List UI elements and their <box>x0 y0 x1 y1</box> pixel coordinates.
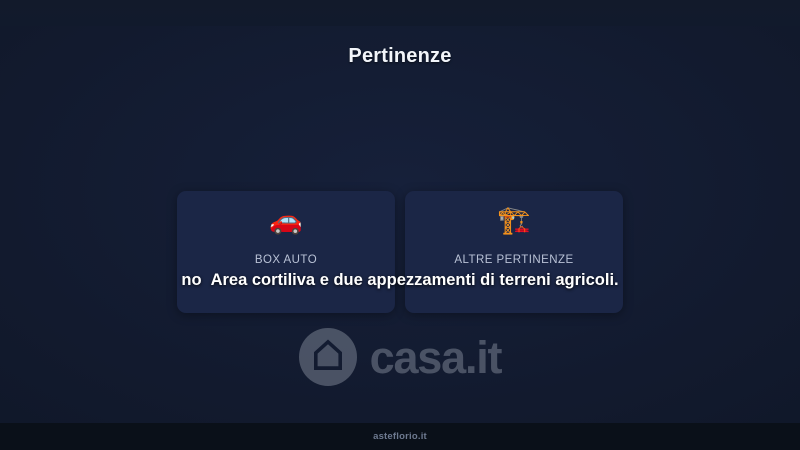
top-band <box>0 0 800 26</box>
watermark: casa.it <box>0 328 800 386</box>
watermark-text: casa.it <box>370 335 502 380</box>
screen-root: Pertinenze 🚗 BOX AUTO 🏗️ ALTRE PERTINENZ… <box>0 0 800 450</box>
card-box-auto[interactable]: 🚗 BOX AUTO <box>177 191 395 313</box>
card-altre-pertinenze[interactable]: 🏗️ ALTRE PERTINENZE <box>405 191 623 313</box>
footer-site-label: asteflorio.it <box>373 431 427 442</box>
casa-house-logo-icon <box>299 328 357 386</box>
building-construction-icon: 🏗️ <box>497 204 531 238</box>
car-icon: 🚗 <box>269 204 303 238</box>
card-label-altre-pertinenze: ALTRE PERTINENZE <box>454 254 573 266</box>
page-title: Pertinenze <box>0 45 800 68</box>
card-label-box-auto: BOX AUTO <box>255 254 317 266</box>
pertinenze-cards-row: 🚗 BOX AUTO 🏗️ ALTRE PERTINENZE <box>177 191 623 313</box>
footer-bar: asteflorio.it <box>0 423 800 450</box>
